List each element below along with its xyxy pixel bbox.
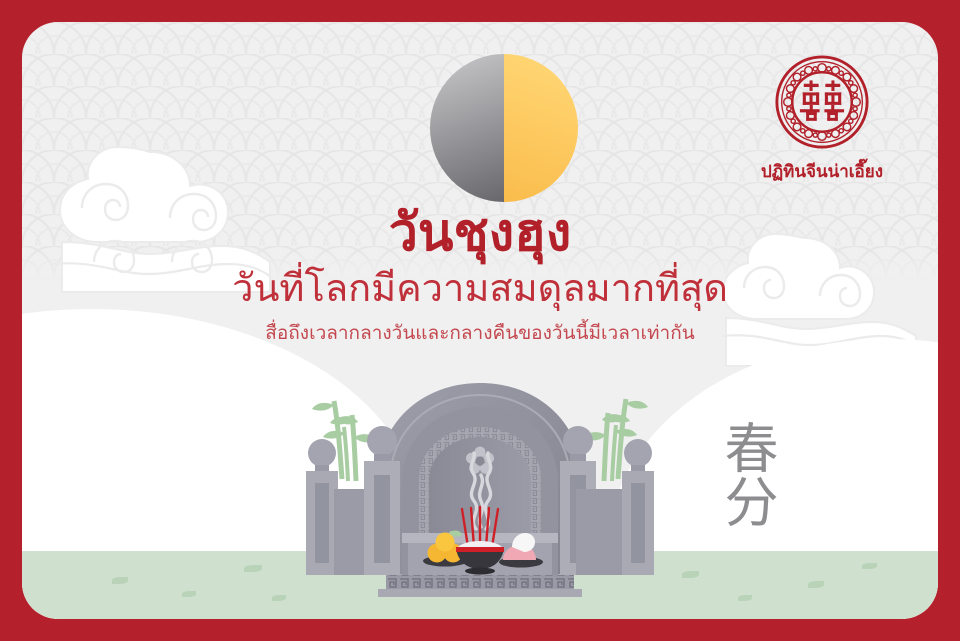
pillar-inner-left xyxy=(364,426,400,575)
brand-name-label: ปฏิทินจีนน่าเอี๊ยง xyxy=(742,158,902,185)
pillar-outer-left xyxy=(306,439,338,575)
poster-inner-canvas: ปฏิทินจีนน่าเอี๊ยง 春分 xyxy=(22,22,938,619)
ground-leaf xyxy=(244,565,262,572)
ground-leaf xyxy=(182,591,196,597)
ground-leaf xyxy=(272,595,286,601)
bamboo-right xyxy=(604,399,626,481)
brand-logo[interactable]: ปฏิทินจีนน่าเอี๊ยง xyxy=(742,54,902,185)
headline-block: วันชุงฮุง วันที่โลกมีความสมดุลมากที่สุด … xyxy=(22,204,938,346)
double-happiness-seal-icon xyxy=(774,54,870,150)
ground-leaf xyxy=(862,563,877,569)
ground-leaf xyxy=(808,581,824,588)
page-subtitle: วันที่โลกมีความสมดุลมากที่สุด xyxy=(22,266,938,311)
ground-leaf xyxy=(682,571,699,578)
ground-leaf xyxy=(738,595,752,601)
page-tagline: สื่อถึงเวลากลางวันและกลางคืนของวันนี้มีเ… xyxy=(22,321,938,346)
chinese-grave-offering-scene xyxy=(290,361,670,597)
pillar-outer-right xyxy=(622,439,654,575)
hanzi-spring-equinox-label: 春分 xyxy=(716,420,776,528)
altar-base-meander xyxy=(378,575,582,597)
equinox-sun-moon-circle xyxy=(430,54,578,202)
wall-right xyxy=(576,489,626,575)
page-title: วันชุงฮุง xyxy=(22,204,938,262)
ground-leaf xyxy=(112,577,128,584)
bamboo-left xyxy=(334,401,356,481)
poster-canvas: ปฏิทินจีนน่าเอี๊ยง 春分 xyxy=(0,0,960,641)
